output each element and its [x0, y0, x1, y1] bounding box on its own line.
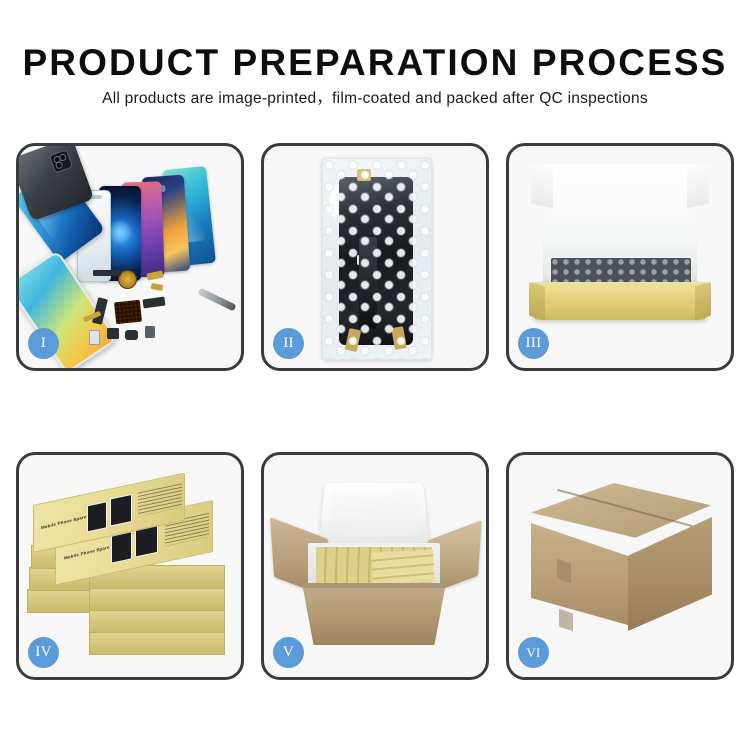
bubble-texture [323, 159, 431, 359]
bubble-wrap-bag-icon [322, 158, 432, 360]
sealed-carton-icon [525, 483, 717, 649]
button-bracket-icon [145, 326, 155, 338]
process-step-grid: I II [0, 0, 750, 750]
step-badge-6: VI [518, 637, 549, 668]
lid-flap-right-icon [687, 164, 709, 209]
box-art-thumb-left [87, 501, 107, 532]
flex-cable-icon [93, 270, 121, 276]
retail-box-slab [89, 609, 223, 631]
screwdriver-icon [197, 288, 236, 312]
open-mailer-box-icon [529, 164, 711, 324]
process-step-panel-4[interactable]: Mobile Phone Spare Parts Mobile Phone Sp… [16, 452, 244, 680]
carton-front-panel-icon [302, 583, 446, 645]
step-badge-5: V [273, 637, 304, 668]
carton-tape-lower [559, 609, 573, 632]
speaker-icon [125, 330, 138, 340]
box-art-thumb-left [111, 531, 132, 563]
foam-lid-icon [319, 483, 429, 546]
lid-flap-left-icon [531, 164, 553, 209]
process-step-panel-1[interactable]: I [16, 143, 244, 371]
sim-tray-icon [89, 330, 100, 345]
product-preparation-poster: PRODUCT PREPARATION PROCESS All products… [0, 0, 750, 750]
step-badge-3: III [518, 328, 549, 359]
carton-left-face [531, 523, 635, 627]
yellow-boxes-row-secondary-icon [371, 549, 435, 584]
camera-module-icon [49, 149, 73, 173]
step-badge-1: I [28, 328, 59, 359]
process-step-panel-5[interactable]: V [261, 452, 489, 680]
retail-box-slab [89, 631, 223, 653]
open-carton-icon [278, 479, 474, 651]
process-step-panel-3[interactable]: III [506, 143, 734, 371]
box-yellow-base-icon [533, 282, 707, 320]
retail-box-stack-icon: Mobile Phone Spare Parts Mobile Phone Sp… [27, 481, 233, 655]
retail-box-slab [89, 587, 223, 609]
process-step-panel-6[interactable]: VI [506, 452, 734, 680]
step-badge-4: IV [28, 637, 59, 668]
antenna-flex-icon [142, 297, 165, 309]
process-step-panel-2[interactable]: II [261, 143, 489, 371]
carton-tape-upper [557, 559, 571, 584]
vibration-motor-icon [107, 328, 119, 339]
box-art-thumb-right [110, 494, 132, 527]
chip-grid-icon [114, 300, 142, 325]
step-badge-2: II [273, 328, 304, 359]
gold-bracket-icon [151, 283, 164, 291]
